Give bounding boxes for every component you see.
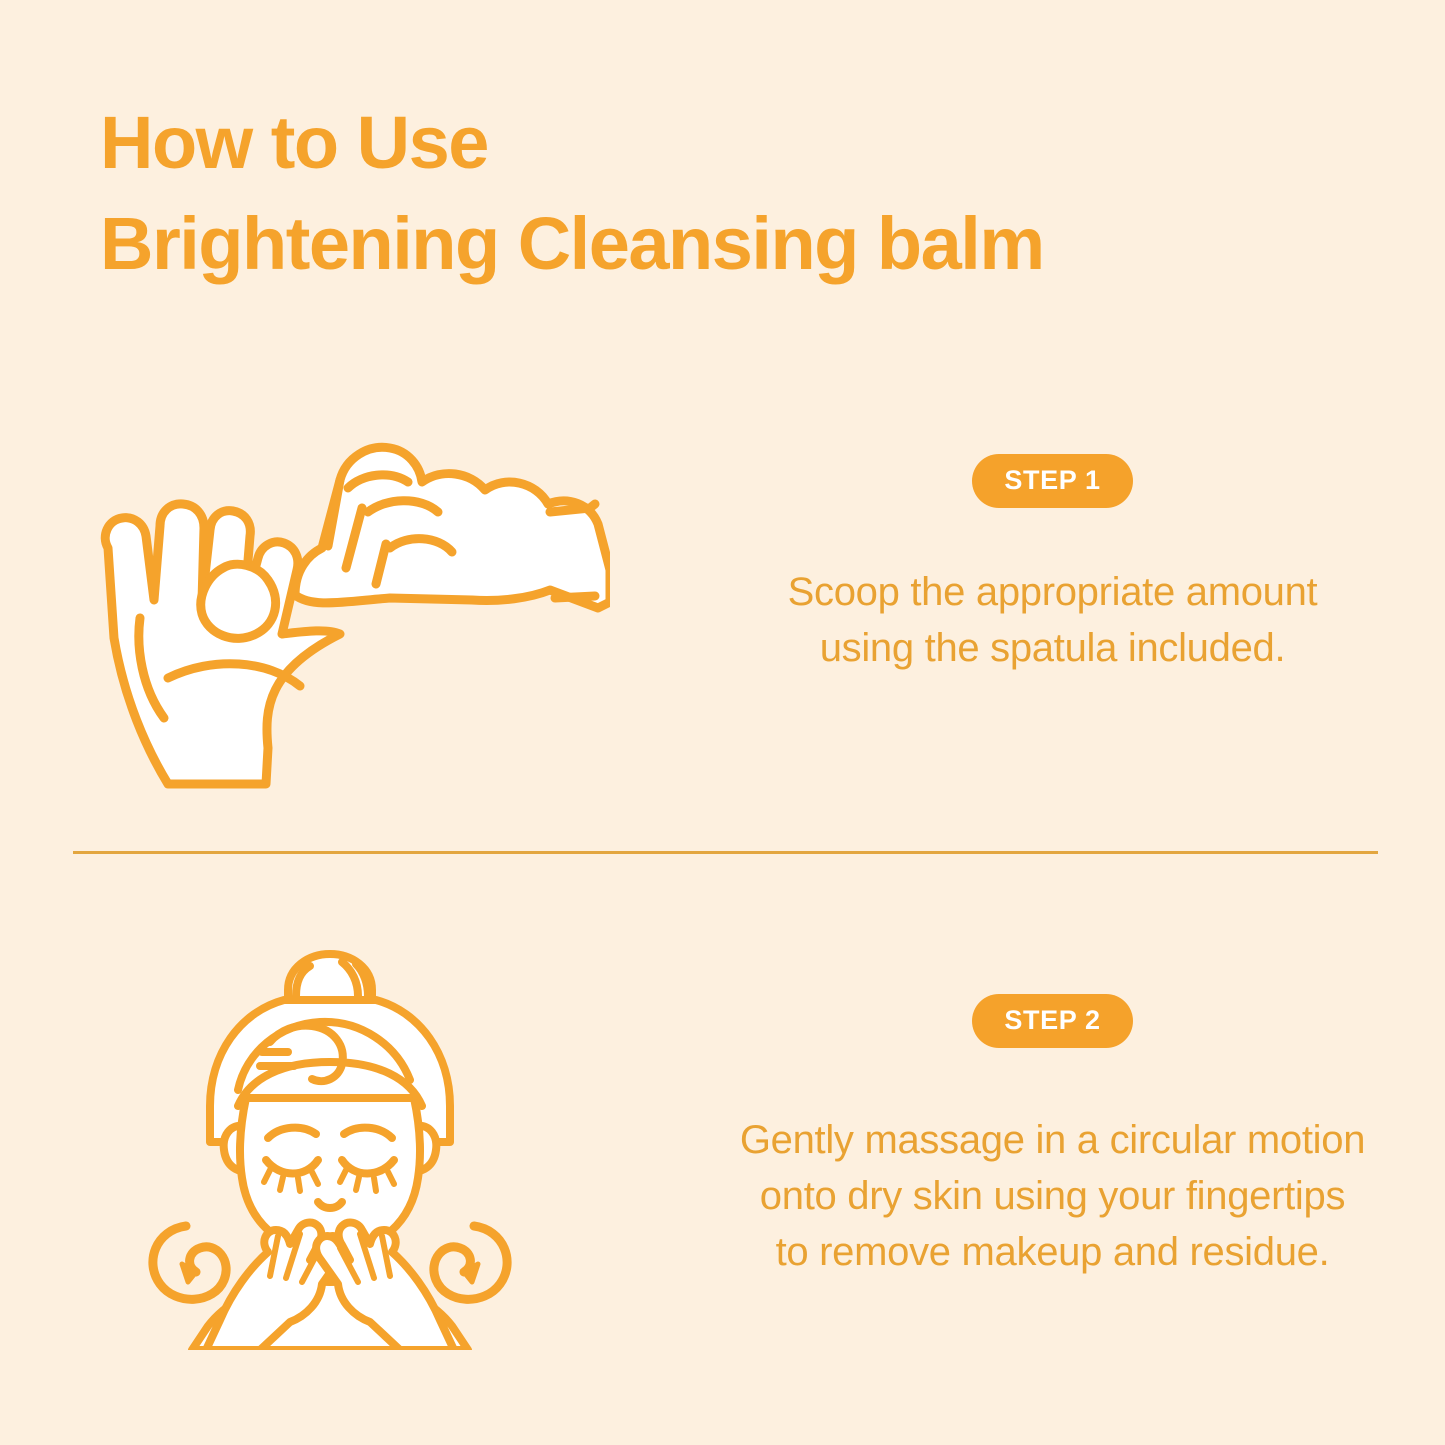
- step-1-text-column: STEP 1 Scoop the appropriate amount usin…: [660, 420, 1445, 676]
- step-1-description-line-2: using the spatula included.: [788, 620, 1318, 676]
- page-title: How to Use Brightening Cleansing balm: [100, 92, 1350, 294]
- section-divider: [73, 851, 1378, 854]
- page-title-line-1: How to Use: [100, 92, 1350, 193]
- step-1-description: Scoop the appropriate amount using the s…: [788, 564, 1318, 676]
- hands-scooping-balm-icon: [50, 420, 610, 790]
- step-2-description-line-2: onto dry skin using your fingertips: [740, 1168, 1365, 1224]
- step-2-row: STEP 2 Gently massage in a circular moti…: [0, 930, 1445, 1380]
- how-to-use-infographic: How to Use Brightening Cleansing balm: [0, 0, 1445, 1445]
- step-2-badge: STEP 2: [972, 994, 1132, 1048]
- page-title-line-2: Brightening Cleansing balm: [100, 193, 1350, 294]
- step-1-badge: STEP 1: [972, 454, 1132, 508]
- woman-massaging-face-icon: [120, 930, 540, 1350]
- step-2-text-column: STEP 2 Gently massage in a circular moti…: [660, 930, 1445, 1280]
- step-1-illustration-column: [0, 420, 660, 790]
- step-2-illustration-column: [0, 930, 660, 1350]
- step-2-description-line-1: Gently massage in a circular motion: [740, 1112, 1365, 1168]
- step-1-row: STEP 1 Scoop the appropriate amount usin…: [0, 420, 1445, 820]
- step-2-description-line-3: to remove makeup and residue.: [740, 1224, 1365, 1280]
- step-1-description-line-1: Scoop the appropriate amount: [788, 564, 1318, 620]
- step-2-description: Gently massage in a circular motion onto…: [740, 1112, 1365, 1280]
